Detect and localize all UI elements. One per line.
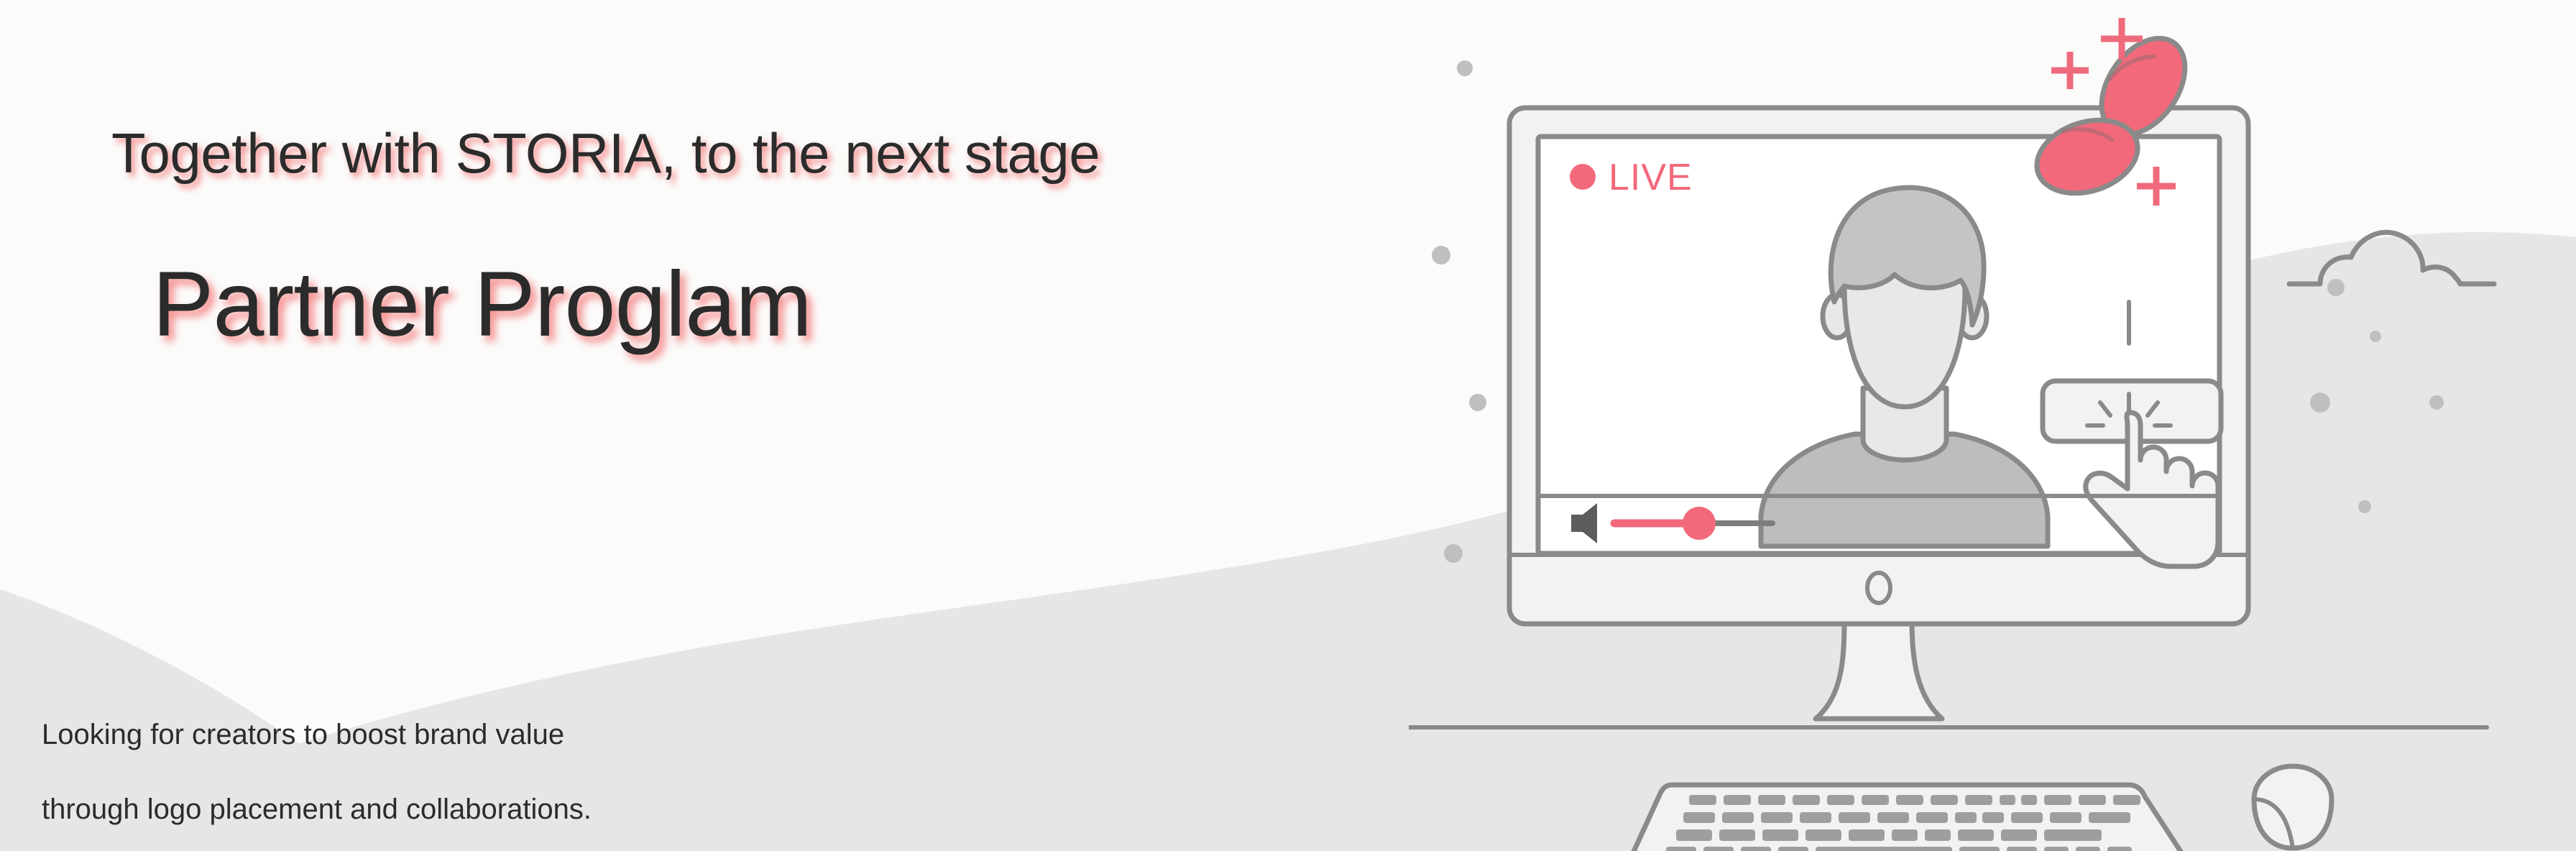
live-dot-icon: [1570, 164, 1596, 190]
partner-program-banner: Together with STORIA, to the next stage …: [0, 0, 2576, 851]
volume-thumb[interactable]: [1683, 507, 1716, 540]
keyboard: [1629, 785, 2188, 851]
mouse: [2254, 766, 2332, 848]
cloud-right: [2289, 232, 2494, 284]
live-label: LIVE: [1609, 157, 1693, 198]
monitor-stand: [1816, 621, 1942, 719]
plus-sparkle-2: [2051, 52, 2089, 89]
live-streaming-desktop-illustration: .ln { fill:none; stroke:#8A8A8A; stroke-…: [1409, 0, 2576, 851]
